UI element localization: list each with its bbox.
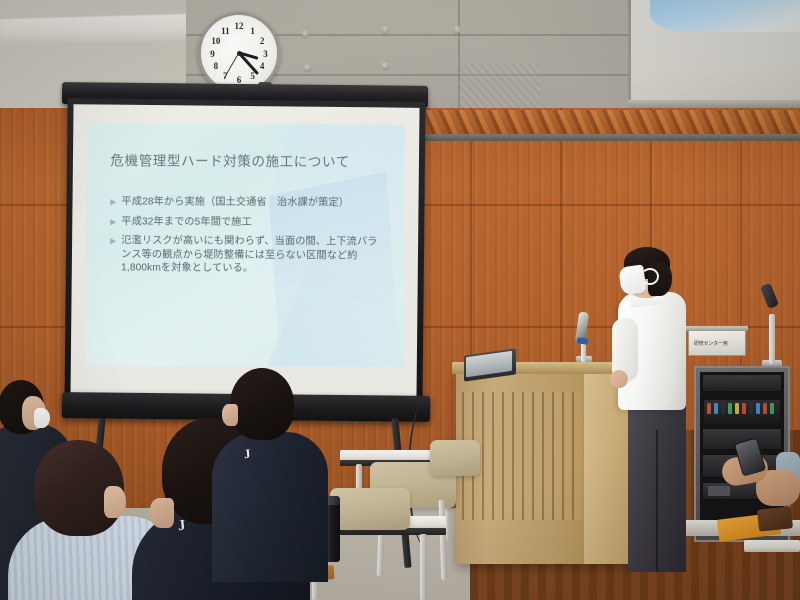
clock-numeral: 10 <box>211 36 220 46</box>
classroom-chair <box>430 440 480 476</box>
attendee-ear <box>104 486 126 518</box>
slide-bullet-text: 平成32年までの5年間で施工 <box>121 215 252 229</box>
presentation-slide: 危機管理型ハード対策の施工について ▶ 平成28年から実施（国土交通省 治水課が… <box>85 123 404 367</box>
face-mask-ear-loop <box>641 268 659 285</box>
clock-numeral: 3 <box>263 49 268 59</box>
slide-title: 危機管理型ハード対策の施工について <box>110 149 349 170</box>
wall-rail <box>400 134 800 141</box>
clock-numeral: 12 <box>235 21 244 31</box>
clock-numeral: 11 <box>221 26 230 36</box>
attendee-hair <box>230 368 294 440</box>
equipment-label-sign: 研修センター用 <box>688 330 746 356</box>
polo-logo-j: J <box>177 518 186 536</box>
sign-frame-top <box>686 326 748 331</box>
sky-through-window <box>650 0 800 32</box>
clock-face: 12 1 2 3 4 5 6 7 8 9 10 11 <box>205 19 273 87</box>
sign-text: 研修センター用 <box>694 340 728 347</box>
face-mask-icon <box>34 408 50 428</box>
clock-numeral: 8 <box>214 61 219 71</box>
presenter-hand <box>610 370 628 388</box>
attendee-torso <box>212 432 328 582</box>
bullet-marker-icon: ▶ <box>110 197 116 206</box>
lecture-room-photo: 12 1 2 3 4 5 6 7 8 9 10 11 危機管理型ハード対策の施工… <box>0 0 800 600</box>
slide-bullet-list: ▶ 平成28年から実施（国土交通省 治水課が策定） ▶ 平成32年までの5年間で… <box>110 195 382 282</box>
brown-wallet <box>757 506 793 531</box>
attendee-ear <box>150 498 174 528</box>
projection-screen-surface: 危機管理型ハード対策の施工について ▶ 平成28年から実施（国土交通省 治水課が… <box>70 104 419 400</box>
cassette-slot <box>708 486 730 496</box>
slide-bullet-item: ▶ 平成28年から実施（国土交通省 治水課が策定） <box>110 195 382 210</box>
classroom-chair <box>330 488 410 530</box>
clock-numeral: 2 <box>260 36 265 46</box>
rack-unit-top <box>702 374 782 392</box>
clock-numeral: 5 <box>250 71 255 81</box>
bullet-marker-icon: ▶ <box>110 236 116 245</box>
carved-wood-trim <box>400 110 800 136</box>
lectern-slat-panel <box>462 392 582 520</box>
presenter-leg-seam <box>656 430 658 572</box>
slide-bullet-text: 氾濫リスクが高いにも関わらず、当面の間、上下流バランス等の観点から堤防整備には至… <box>121 235 382 277</box>
attendee-ear <box>222 404 238 426</box>
bullet-marker-icon: ▶ <box>110 217 116 226</box>
clock-center-pin <box>237 51 242 56</box>
clock-numeral: 4 <box>260 61 265 71</box>
slide-bullet-item: ▶ 平成32年までの5年間で施工 <box>110 215 382 230</box>
slide-bullet-item: ▶ 氾濫リスクが高いにも関わらず、当面の間、上下流バランス等の観点から堤防整備に… <box>110 234 382 276</box>
slide-bullet-text: 平成28年から実施（国土交通省 治水課が策定） <box>121 195 349 210</box>
patch-panel <box>704 400 780 424</box>
clock-numeral: 1 <box>250 26 255 36</box>
clock-numeral: 9 <box>210 49 215 59</box>
classroom-desk <box>744 540 800 552</box>
microphone-stand <box>769 314 775 364</box>
polo-logo-j: J <box>243 446 251 463</box>
